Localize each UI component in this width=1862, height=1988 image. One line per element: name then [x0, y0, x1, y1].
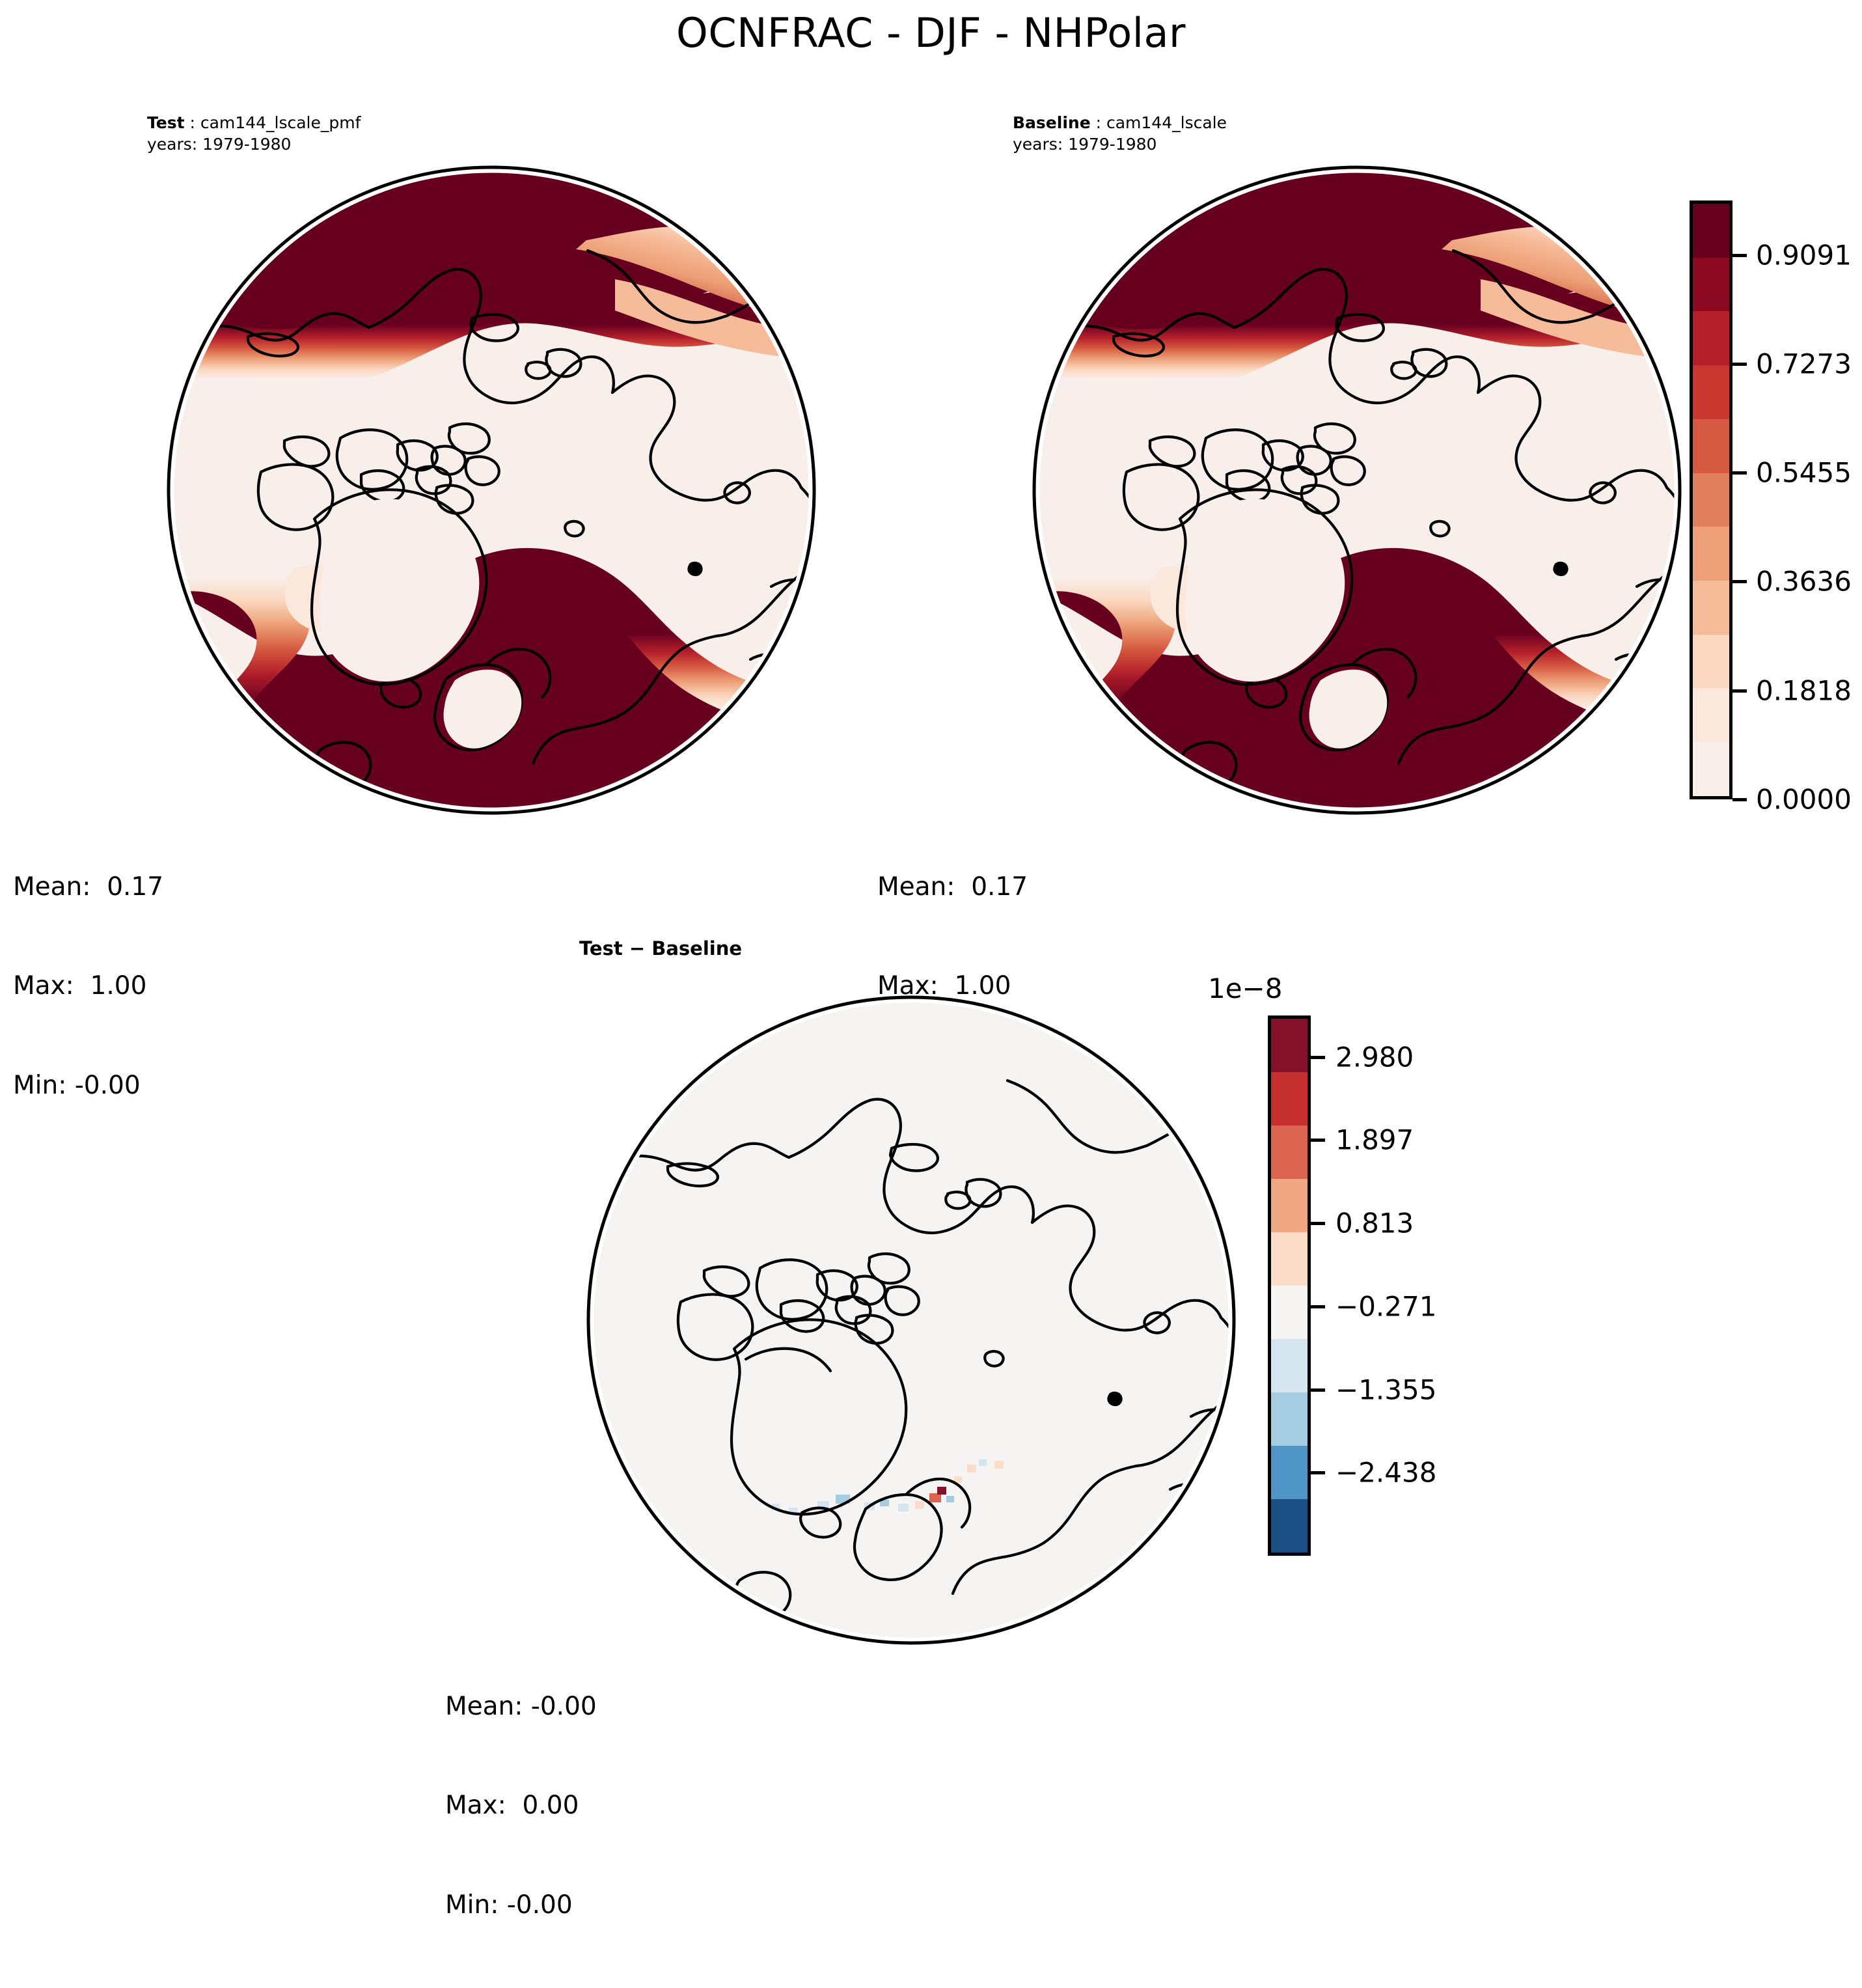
main-colorbar-tick-label-0: 0.9091	[1756, 239, 1852, 271]
test-panel-header: Test : cam144_lscale_pmf years: 1979-198…	[147, 112, 361, 155]
figure-canvas: OCNFRAC - DJF - NHPolar Test : cam144_ls…	[0, 0, 1862, 1736]
diff-stat-mean: Mean: -0.00	[445, 1691, 597, 1724]
baseline-map-svg	[1032, 165, 1682, 816]
diff-colorbar-tick-label-0: 2.980	[1335, 1041, 1414, 1073]
diff-colorbar-band-8	[1271, 1446, 1308, 1499]
diff-colorbar-band-7	[1271, 1392, 1308, 1446]
test-years: years: 1979-1980	[147, 133, 361, 155]
main-colorbar-tick-1	[1732, 363, 1747, 366]
test-label-value: cam144_lscale_pmf	[200, 113, 361, 132]
test-label-sep: :	[185, 113, 200, 132]
main-colorbar-tick-0	[1732, 254, 1747, 257]
diff-colorbar-tick-label-4: −1.355	[1335, 1374, 1436, 1405]
diff-colorbar-tick-3	[1311, 1305, 1325, 1308]
main-colorbar-bar[interactable]	[1690, 200, 1732, 799]
main-colorbar-tick-label-5: 0.0000	[1756, 784, 1852, 816]
diff-map-panel[interactable]	[586, 995, 1237, 1646]
test-stat-min: Min: -0.00	[13, 1070, 163, 1103]
diff-colorbar-band-6	[1271, 1339, 1308, 1392]
diff-colorbar-tick-label-2: 0.813	[1335, 1208, 1414, 1239]
main-colorbar-band-5	[1693, 473, 1729, 527]
main-colorbar-tick-2	[1732, 471, 1747, 475]
baseline-label-sep: :	[1091, 113, 1106, 132]
diff-colorbar-tick-label-3: −0.271	[1335, 1290, 1436, 1322]
diff-colorbar-band-4	[1271, 1232, 1308, 1286]
diff-stat-max: Max: 0.00	[445, 1789, 597, 1823]
test-stat-mean: Mean: 0.17	[13, 871, 163, 904]
main-colorbar-band-10	[1693, 742, 1729, 796]
diff-colorbar-band-2	[1271, 1125, 1308, 1179]
diff-colorbar-tick-label-5: −2.438	[1335, 1457, 1436, 1489]
diff-colorbar-tick-label-1: 1.897	[1335, 1124, 1414, 1156]
diff-colorbar-band-5	[1271, 1286, 1308, 1339]
diff-colorbar-tick-2	[1311, 1222, 1325, 1225]
diff-colorbar-band-9	[1271, 1499, 1308, 1553]
test-map-panel[interactable]	[166, 165, 817, 816]
diff-colorbar-band-1	[1271, 1072, 1308, 1125]
main-colorbar-band-1	[1693, 258, 1729, 312]
diff-panel-title: Test − Baseline	[579, 937, 742, 959]
diff-colorbar-tick-1	[1311, 1139, 1325, 1142]
baseline-years: years: 1979-1980	[1013, 133, 1227, 155]
main-colorbar-band-6	[1693, 527, 1729, 581]
baseline-label-key: Baseline	[1013, 113, 1091, 132]
main-colorbar-band-0	[1693, 204, 1729, 258]
baseline-stat-mean: Mean: 0.17	[877, 871, 1028, 904]
diff-colorbar[interactable]: 1e−8 2.9801.8970.813−0.271−1.355−2.438	[1268, 1015, 1450, 1556]
diff-colorbar-tick-0	[1311, 1056, 1325, 1059]
main-colorbar[interactable]: 0.90910.72730.54550.36360.18180.0000	[1690, 200, 1859, 799]
main-colorbar-tick-label-4: 0.1818	[1756, 674, 1852, 706]
main-colorbar-tick-label-1: 0.7273	[1756, 348, 1852, 380]
main-colorbar-band-4	[1693, 419, 1729, 473]
baseline-map-panel[interactable]	[1032, 165, 1682, 816]
diff-colorbar-offset-label: 1e−8	[1208, 973, 1282, 1004]
test-stats: Mean: 0.17 Max: 1.00 Min: -0.00	[13, 805, 163, 1168]
main-colorbar-tick-4	[1732, 689, 1747, 693]
test-map-svg	[166, 165, 817, 816]
main-colorbar-band-7	[1693, 581, 1729, 635]
diff-stats: Mean: -0.00 Max: 0.00 Min: -0.00	[445, 1625, 597, 1988]
diff-map-svg	[586, 995, 1237, 1646]
figure-title: OCNFRAC - DJF - NHPolar	[0, 9, 1862, 57]
main-colorbar-band-2	[1693, 311, 1729, 365]
main-colorbar-band-8	[1693, 635, 1729, 689]
main-colorbar-band-9	[1693, 688, 1729, 742]
diff-colorbar-tick-4	[1311, 1388, 1325, 1392]
baseline-label-value: cam144_lscale	[1106, 113, 1227, 132]
main-colorbar-tick-5	[1732, 798, 1747, 801]
test-stat-max: Max: 1.00	[13, 970, 163, 1003]
diff-colorbar-band-3	[1271, 1179, 1308, 1232]
diff-colorbar-band-0	[1271, 1019, 1308, 1072]
main-colorbar-tick-label-2: 0.5455	[1756, 457, 1852, 489]
diff-colorbar-tick-5	[1311, 1471, 1325, 1474]
main-colorbar-tick-label-3: 0.3636	[1756, 566, 1852, 598]
test-label-key: Test	[147, 113, 185, 132]
diff-colorbar-bar[interactable]	[1268, 1015, 1311, 1556]
main-colorbar-band-3	[1693, 365, 1729, 419]
baseline-panel-header: Baseline : cam144_lscale years: 1979-198…	[1013, 112, 1227, 155]
main-colorbar-tick-3	[1732, 580, 1747, 583]
diff-stat-min: Min: -0.00	[445, 1889, 597, 1922]
